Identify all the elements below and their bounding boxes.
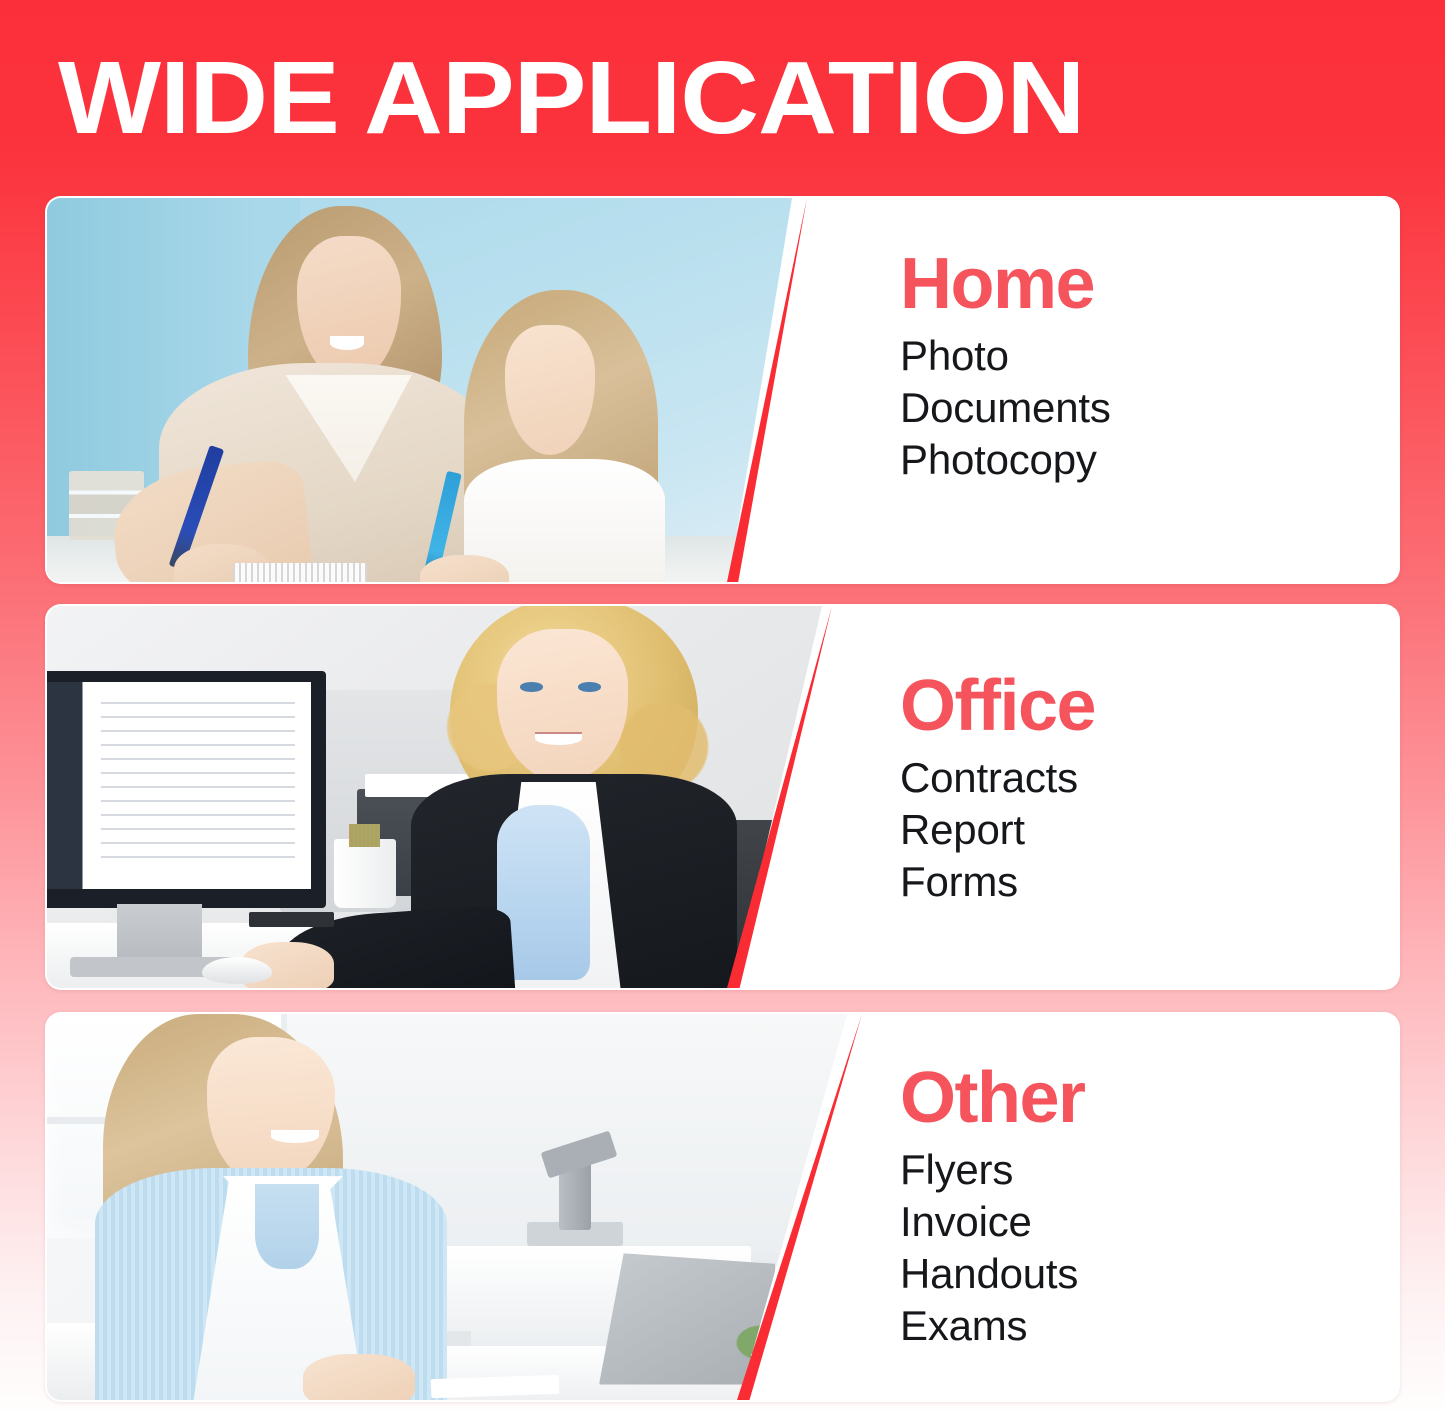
card-text-office: Office Contracts Report Forms — [858, 606, 1398, 988]
application-card-office: Office Contracts Report Forms — [45, 604, 1400, 990]
application-card-other: Other Flyers Invoice Handouts Exams — [45, 1012, 1400, 1402]
page-title: WIDE APPLICATION — [58, 44, 1309, 152]
card-photo-office — [47, 606, 822, 988]
screen-text-lines — [101, 702, 295, 862]
list-item: Exams — [900, 1300, 1398, 1352]
woman-blue-blouse — [255, 1184, 319, 1269]
plant-leaves — [735, 1300, 823, 1362]
photo-scene-office-desk — [47, 606, 822, 988]
test-tubes-icon — [783, 1292, 839, 1354]
notepad — [233, 563, 367, 582]
photo-scene-lab — [47, 1014, 847, 1400]
list-item: Report — [900, 804, 1398, 856]
mother-smile — [330, 336, 364, 349]
card-item-list-other: Flyers Invoice Handouts Exams — [900, 1144, 1398, 1352]
photo-scene-home-study — [47, 198, 792, 582]
phone-on-desk — [249, 912, 334, 927]
card-heading-office: Office — [900, 668, 1398, 744]
list-item: Forms — [900, 856, 1398, 908]
plant-pot — [751, 1354, 815, 1393]
woman-clasped-hands — [303, 1354, 415, 1400]
computer-mouse-icon — [202, 957, 272, 984]
woman-eye-right — [578, 682, 601, 692]
woman-eye-left — [520, 682, 543, 692]
card-photo-other — [47, 1014, 847, 1400]
list-item: Photo — [900, 330, 1398, 382]
card-item-list-home: Photo Documents Photocopy — [900, 330, 1398, 486]
card-heading-home: Home — [900, 246, 1398, 322]
card-photo-home — [47, 198, 792, 582]
card-text-home: Home Photo Documents Photocopy — [858, 198, 1398, 582]
pencil-cup — [349, 824, 380, 847]
list-item: Photocopy — [900, 434, 1398, 486]
list-item: Handouts — [900, 1248, 1398, 1300]
list-item: Documents — [900, 382, 1398, 434]
infographic-page: WIDE APPLICATION — [0, 0, 1445, 1411]
card-text-other: Other Flyers Invoice Handouts Exams — [858, 1014, 1398, 1400]
application-card-home: Home Photo Documents Photocopy — [45, 196, 1400, 584]
list-item: Invoice — [900, 1196, 1398, 1248]
monitor-stand — [117, 904, 202, 965]
card-heading-other: Other — [900, 1060, 1398, 1136]
list-item: Contracts — [900, 752, 1398, 804]
list-item: Flyers — [900, 1144, 1398, 1196]
mug-icon — [334, 839, 396, 908]
card-item-list-office: Contracts Report Forms — [900, 752, 1398, 908]
